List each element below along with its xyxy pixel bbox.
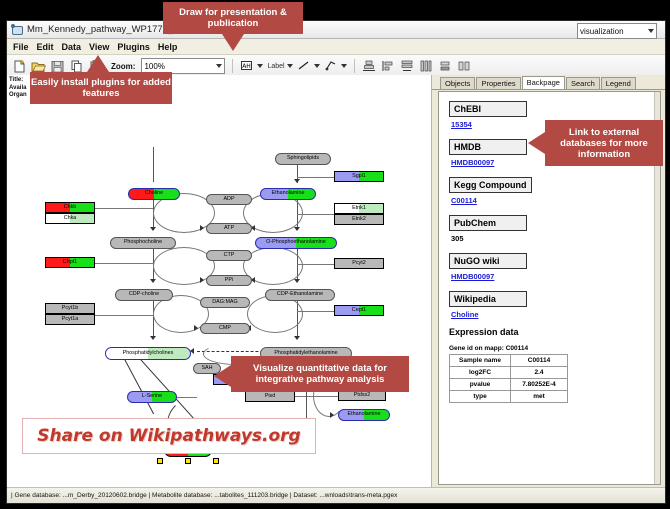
- metabolite-node[interactable]: L-Serine: [127, 391, 177, 403]
- metabolite-node[interactable]: PPi: [206, 275, 252, 286]
- metabolite-label: O-Phosphoethanolamine: [266, 240, 326, 245]
- arrowhead-icon: [200, 277, 204, 283]
- metabolite-node[interactable]: ATP: [206, 223, 252, 234]
- menu-item-edit[interactable]: Edit: [37, 42, 54, 52]
- edge-line: [297, 264, 335, 265]
- new-file-icon[interactable]: [12, 59, 27, 74]
- selection-handle[interactable]: [213, 458, 219, 464]
- database-value: 305: [451, 234, 652, 243]
- edge-line: [297, 177, 335, 178]
- menu-item-plugins[interactable]: Plugins: [117, 42, 150, 52]
- callout-visualize-text: Visualize quantitative data for integrat…: [231, 363, 409, 385]
- metabolite-label: CDP-choline: [129, 292, 159, 297]
- chevron-down-icon: [216, 64, 222, 68]
- metabolite-label: PPi: [225, 278, 233, 283]
- visualization-value: visualization: [580, 27, 624, 36]
- edge-line: [95, 263, 153, 264]
- callout-visualize: Visualize quantitative data for integrat…: [231, 356, 409, 392]
- menu-item-file[interactable]: File: [13, 42, 29, 52]
- interaction-tool[interactable]: [324, 59, 347, 74]
- metabolite-node[interactable]: Ethanolamine: [260, 188, 316, 200]
- arrowhead-icon: [294, 227, 300, 231]
- callout-draw-text: Draw for presentation & publication: [163, 7, 303, 29]
- line-tool[interactable]: [297, 59, 320, 74]
- gene-node[interactable]: Pcyt1b: [45, 303, 95, 314]
- database-name-header: NuGO wiki: [449, 253, 527, 269]
- expression-value: 2.4: [511, 367, 568, 379]
- edge-line: [177, 397, 197, 398]
- gene-label: Etnk1: [352, 206, 366, 211]
- svg-text:AH: AH: [243, 63, 252, 70]
- gene-node[interactable]: Pcyt1a: [45, 314, 95, 325]
- expression-data-heading: Expression data: [449, 327, 652, 337]
- metabolite-node[interactable]: CTP: [206, 250, 252, 261]
- pathway-info-title: Title:: [9, 77, 27, 85]
- expression-value: C00114: [511, 355, 568, 367]
- callout-link-text: Link to external databases for more info…: [545, 127, 663, 160]
- distribute-vertical-icon[interactable]: [400, 59, 415, 74]
- arrowhead-icon: [294, 336, 300, 340]
- gene-node[interactable]: Sgpl1: [334, 171, 384, 182]
- menu-item-view[interactable]: View: [89, 42, 109, 52]
- metabolite-label: Phosphatidylcholines: [123, 351, 174, 356]
- metabolite-label: Ethanolamine: [348, 412, 381, 417]
- database-name-header: ChEBI: [449, 101, 527, 117]
- gene-label: Sgpl1: [352, 174, 366, 179]
- callout-share: Share on Wikipathways.org: [22, 418, 316, 454]
- arrowhead-icon: [200, 225, 204, 231]
- screenshot-root: Mm_Kennedy_pathway_WP1771_45176.gpml Fil…: [0, 0, 670, 509]
- callout-visualize-arrow: [214, 365, 231, 387]
- metabolite-node[interactable]: CMP: [200, 323, 250, 334]
- metabolite-label: Ethanolamine: [272, 191, 305, 196]
- arrowhead-icon: [150, 336, 156, 340]
- selection-handle[interactable]: [185, 458, 191, 464]
- gene-label: Etnk2: [352, 217, 366, 222]
- metabolite-node[interactable]: Sphingolipids: [275, 153, 331, 165]
- pathway-info: Title: Availa Organ: [9, 77, 27, 100]
- database-link[interactable]: Choline: [451, 310, 652, 319]
- gene-node[interactable]: Etnk2: [334, 214, 384, 225]
- edge-line: [297, 214, 335, 215]
- gene-label: Chka: [64, 216, 77, 221]
- zoom-label: Zoom:: [111, 62, 135, 71]
- database-name-header: PubChem: [449, 215, 527, 231]
- gene-node[interactable]: Pcyt2: [334, 258, 384, 269]
- zoom-value: 100%: [144, 62, 164, 71]
- metabolite-label: Choline: [145, 191, 163, 196]
- line-icon[interactable]: [297, 59, 312, 74]
- edge-line: [124, 359, 154, 414]
- arrowhead-icon: [194, 325, 198, 331]
- gene-label: Pcyt1b: [62, 306, 78, 311]
- tab-legend[interactable]: Legend: [601, 77, 636, 89]
- metabolite-node[interactable]: O-Phosphoethanolamine: [255, 237, 337, 249]
- callout-draw: Draw for presentation & publication: [163, 2, 303, 34]
- chevron-down-icon[interactable]: [257, 64, 263, 68]
- metabolite-label: CDP-Ethanolamine: [277, 292, 323, 297]
- metabolite-node[interactable]: Phosphocholine: [110, 237, 176, 249]
- callout-plugins-arrow: [87, 55, 109, 72]
- tab-search[interactable]: Search: [566, 77, 600, 89]
- callout-plugins-text: Easily install plugins for added feature…: [30, 77, 172, 99]
- expression-value: met: [511, 391, 568, 403]
- menu-item-help[interactable]: Help: [158, 42, 178, 52]
- gene-node[interactable]: Chkb: [45, 202, 95, 213]
- gene-label: Chkb: [64, 205, 77, 210]
- gene-id-label: Gene id on mapp: C00114: [449, 345, 652, 352]
- label-tool[interactable]: Label: [267, 63, 292, 70]
- gene-node[interactable]: Chka: [45, 213, 95, 224]
- pathway-info-organism: Organ: [9, 92, 27, 100]
- gene-label: Pisd: [265, 394, 276, 399]
- selection-handle[interactable]: [157, 458, 163, 464]
- gene-label: Pcyt1a: [62, 317, 78, 322]
- toolbar-separator: [232, 59, 233, 73]
- metabolite-label: CTP: [224, 253, 235, 258]
- arrowhead-icon: [294, 279, 300, 283]
- callout-draw-arrow: [222, 34, 244, 51]
- metabolite-node[interactable]: Choline: [128, 188, 180, 200]
- expression-key: type: [450, 391, 511, 403]
- edge-line: [297, 311, 335, 312]
- metabolite-label: CMP: [219, 326, 231, 331]
- gene-node[interactable]: Etnk1: [334, 203, 384, 214]
- table-row: Sample nameC00114: [450, 355, 568, 367]
- tab-properties[interactable]: Properties: [476, 77, 520, 89]
- database-link[interactable]: HMDB00097: [451, 272, 652, 281]
- stack-icon[interactable]: [438, 59, 453, 74]
- edge-line: [153, 147, 154, 182]
- arrowhead-icon: [294, 179, 300, 183]
- toolbar-separator: [354, 59, 355, 73]
- text-box-icon[interactable]: AH: [240, 59, 255, 74]
- expression-table: Sample nameC00114log2FC2.4pvalue7.80252E…: [449, 354, 568, 403]
- distribute-horizontal-icon[interactable]: [419, 59, 434, 74]
- metabolite-node[interactable]: Phosphatidylcholines: [105, 347, 191, 360]
- metabolite-label: L-Serine: [142, 394, 162, 399]
- tab-backpage[interactable]: Backpage: [522, 76, 565, 89]
- expression-value: 7.80252E-4: [511, 379, 568, 391]
- metabolite-label: SAH: [201, 366, 212, 371]
- chevron-down-icon[interactable]: [341, 64, 347, 68]
- edge-line: [95, 208, 153, 209]
- align-left-icon[interactable]: [381, 59, 396, 74]
- title-bar: Mm_Kennedy_pathway_WP1771_45176.gpml: [7, 21, 665, 39]
- metabolite-node[interactable]: CDP-Ethanolamine: [265, 289, 335, 301]
- side-panel-tabs: Objects Properties Backpage Search Legen…: [432, 75, 665, 90]
- metabolite-label: DAG:MAG: [212, 300, 237, 305]
- pathway-info-available: Availa: [9, 85, 27, 93]
- group-icon[interactable]: [457, 59, 472, 74]
- metabolite-node[interactable]: CDP-choline: [115, 289, 173, 301]
- callout-plugins: Easily install plugins for added feature…: [30, 72, 172, 104]
- arrow-interaction-icon[interactable]: [324, 59, 339, 74]
- edge-line: [95, 315, 153, 316]
- chevron-down-icon[interactable]: [287, 64, 293, 68]
- label-tool-label: Label: [267, 63, 284, 70]
- pathvisio-icon: [11, 24, 22, 35]
- arrowhead-icon: [150, 279, 156, 283]
- menu-item-data[interactable]: Data: [62, 42, 82, 52]
- status-bar-text: | Gene database: ...m_Derby_20120602.bri…: [11, 492, 397, 499]
- metabolite-node[interactable]: ADP: [206, 194, 252, 205]
- tab-objects[interactable]: Objects: [440, 77, 475, 89]
- metabolite-label: ATP: [224, 226, 234, 231]
- arrowhead-icon: [150, 227, 156, 231]
- gene-label: Chpt1: [63, 260, 77, 265]
- table-row: typemet: [450, 391, 568, 403]
- metabolite-node[interactable]: DAG:MAG: [200, 297, 250, 308]
- gene-node[interactable]: Chpt1: [45, 257, 95, 268]
- gene-label: Cept1: [352, 308, 366, 313]
- metabolite-label: Sphingolipids: [287, 156, 319, 161]
- metabolite-label: ADP: [223, 197, 234, 202]
- chevron-down-icon[interactable]: [314, 64, 320, 68]
- database-name-header: Wikipedia: [449, 291, 527, 307]
- database-link[interactable]: C00114: [451, 196, 652, 205]
- gene-label: Pcyt2: [352, 261, 365, 266]
- gene-label: Ptdss2: [354, 393, 370, 398]
- metabolite-label: Phosphocholine: [124, 240, 162, 245]
- status-bar: | Gene database: ...m_Derby_20120602.bri…: [7, 487, 665, 503]
- chevron-down-icon: [648, 29, 654, 33]
- expression-key: log2FC: [450, 367, 511, 379]
- callout-share-text: Share on Wikipathways.org: [37, 426, 300, 446]
- expression-key: Sample name: [450, 355, 511, 367]
- gene-node[interactable]: Pisd: [245, 391, 295, 402]
- metabolite-node[interactable]: Ethanolamine: [338, 409, 390, 421]
- menu-bar: File Edit Data View Plugins Help: [7, 39, 665, 55]
- database-name-header: Kegg Compound: [449, 177, 532, 193]
- text-tool[interactable]: AH: [240, 59, 263, 74]
- gene-node[interactable]: Cept1: [334, 305, 384, 316]
- arrowhead-icon: [330, 412, 334, 418]
- database-name-header: HMDB: [449, 139, 527, 155]
- table-row: log2FC2.4: [450, 367, 568, 379]
- table-row: pvalue7.80252E-4: [450, 379, 568, 391]
- align-center-icon[interactable]: [362, 59, 377, 74]
- visualization-combobox[interactable]: visualization: [577, 23, 657, 39]
- expression-key: pvalue: [450, 379, 511, 391]
- callout-link-arrow: [528, 132, 545, 154]
- callout-link: Link to external databases for more info…: [545, 120, 663, 166]
